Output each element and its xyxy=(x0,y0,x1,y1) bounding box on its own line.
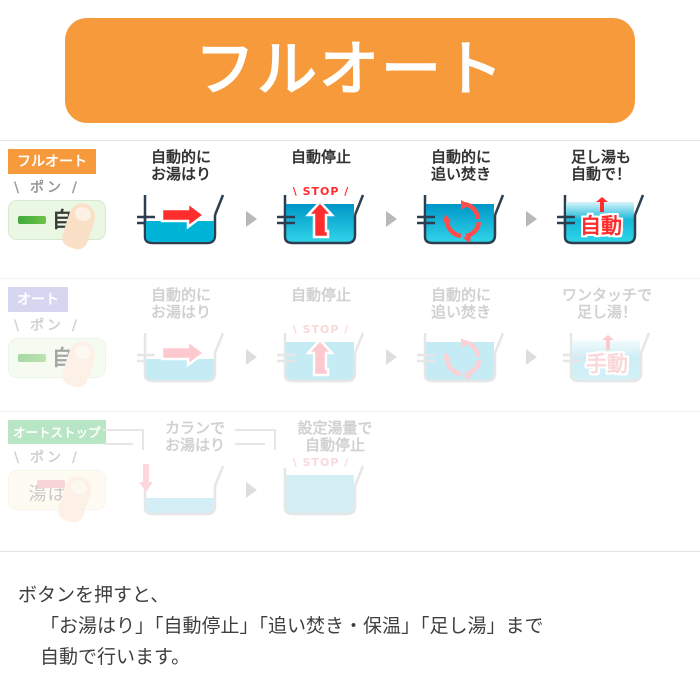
bathtub-graphic xyxy=(125,325,237,387)
bathtub-icon xyxy=(125,187,237,249)
bathtub-graphic: \ STOP / xyxy=(265,187,377,249)
faucet-pipe-icon xyxy=(235,424,291,454)
step-caption: 自動的に 追い焚き xyxy=(431,287,491,325)
stop-label: \ STOP / xyxy=(265,456,377,469)
bathtub-graphic: \ STOP / xyxy=(265,325,377,387)
page-title: フルオート xyxy=(195,40,505,100)
step-separator xyxy=(380,149,402,227)
steps-auto: 自動的に お湯はり xyxy=(122,287,700,387)
press-sound-label-auto: \ ポン / xyxy=(8,315,122,335)
step-fill-water: 自動的に お湯はり xyxy=(122,287,240,387)
step-separator xyxy=(520,287,542,365)
triangle-arrow-icon xyxy=(526,349,537,365)
triangle-arrow-icon xyxy=(526,211,537,227)
step-caption: 自動的に お湯はり xyxy=(151,149,211,187)
plan-badge-auto: オート xyxy=(8,287,68,312)
up-tick-icon xyxy=(601,335,615,351)
step-caption: 足し湯も 自動で！ xyxy=(571,149,631,187)
step-caption: 自動停止 xyxy=(291,149,351,187)
plan-row-auto: オート \ ポン / 自動 自動的に お湯はり xyxy=(0,278,700,411)
step-auto-stop: 自動停止 \ STOP / xyxy=(262,287,380,387)
footer-line-3: 自動で行います。 xyxy=(18,642,700,673)
triangle-arrow-icon xyxy=(246,211,257,227)
down-arrow-icon xyxy=(138,464,154,494)
bathtub-icon xyxy=(125,325,237,387)
press-sound-label-fullauto: \ ポン / xyxy=(8,177,122,197)
bathtub-icon xyxy=(405,325,517,387)
bathtub-graphic xyxy=(125,458,237,520)
indicator-lamp-icon xyxy=(18,216,46,224)
bathtub-graphic xyxy=(405,187,517,249)
bathtub-graphic xyxy=(125,187,237,249)
indicator-lamp-icon xyxy=(18,354,46,362)
plan-badge-autostop: オートストップ xyxy=(8,420,106,444)
triangle-arrow-icon xyxy=(386,349,397,365)
stop-label: \ STOP / xyxy=(265,323,377,336)
bathtub-graphic: 手動 xyxy=(551,325,663,387)
steps-fullauto: 自動的に お湯はり xyxy=(122,149,700,249)
step-set-volume-stop: 設定湯量で 自動停止 \ STOP / xyxy=(262,420,380,520)
plan-badge-fullauto: フルオート xyxy=(8,149,96,174)
step-topup-water: 足し湯も 自動で！ xyxy=(542,149,660,249)
control-cell-fullauto: フルオート \ ポン / 自動 xyxy=(0,149,122,240)
step-topup-water: ワンタッチで 足し湯！ xyxy=(542,287,672,387)
plan-rows-container: フルオート \ ポン / 自動 自動的に お湯はり xyxy=(0,140,700,552)
step-separator xyxy=(240,149,262,227)
step-separator xyxy=(520,149,542,227)
footer-line-1: ボタンを押すと、 xyxy=(18,580,700,611)
step-caption: 自動的に 追い焚き xyxy=(431,149,491,187)
step-faucet-fill: カランで お湯はり xyxy=(122,420,240,520)
footer-description: ボタンを押すと、 「お湯はり」「自動停止」「追い焚き・保温」「足し湯」まで 自動… xyxy=(0,552,700,672)
step-auto-stop: 自動停止 \ STOP xyxy=(262,149,380,249)
plan-row-autostop: オートストップ \ ポン / 湯はり カランで お湯はり xyxy=(0,411,700,551)
header-area: フルオート xyxy=(0,0,700,140)
step-separator xyxy=(380,287,402,365)
steps-autostop: カランで お湯はり xyxy=(122,420,700,520)
footer-line-2: 「お湯はり」「自動停止」「追い焚き・保温」「足し湯」まで xyxy=(18,611,700,642)
plan-row-fullauto: フルオート \ ポン / 自動 自動的に お湯はり xyxy=(0,140,700,278)
triangle-arrow-icon xyxy=(246,482,257,498)
triangle-arrow-icon xyxy=(246,349,257,365)
control-cell-auto: オート \ ポン / 自動 xyxy=(0,287,122,378)
step-separator xyxy=(240,287,262,365)
faucet-pipe-icon xyxy=(103,424,159,454)
header-banner: フルオート xyxy=(65,18,635,123)
bathtub-graphic: 自動 xyxy=(545,187,657,249)
up-tick-icon xyxy=(595,197,609,213)
step-reheat: 自動的に 追い焚き xyxy=(402,149,520,249)
step-fill-water: 自動的に お湯はり xyxy=(122,149,240,249)
bathtub-graphic xyxy=(405,325,517,387)
step-caption: 自動停止 xyxy=(291,287,351,325)
step-caption: カランで お湯はり xyxy=(137,420,225,458)
triangle-arrow-icon xyxy=(386,211,397,227)
step-reheat: 自動的に 追い焚き xyxy=(402,287,520,387)
step-caption: ワンタッチで 足し湯！ xyxy=(562,287,652,325)
indicator-lamp-icon xyxy=(37,480,65,488)
step-caption: 設定湯量で 自動停止 xyxy=(269,420,372,458)
stop-label: \ STOP / xyxy=(265,185,377,198)
step-caption: 自動的に お湯はり xyxy=(151,287,211,325)
bathtub-graphic: \ STOP / xyxy=(265,458,377,520)
bathtub-icon xyxy=(405,187,517,249)
